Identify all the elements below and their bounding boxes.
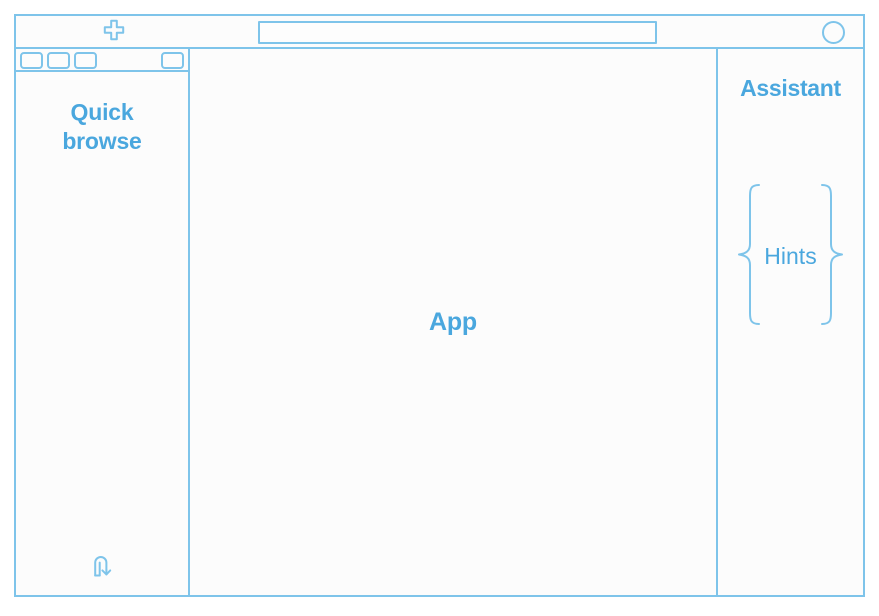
sidebar-content: Quick browse bbox=[16, 72, 188, 595]
address-bar[interactable] bbox=[258, 21, 657, 44]
app-content-area[interactable]: App bbox=[190, 49, 718, 595]
sidebar-title: Quick browse bbox=[16, 98, 188, 157]
sidebar-title-line-1: Quick bbox=[16, 98, 188, 127]
quick-browse-sidebar: Quick browse bbox=[16, 49, 190, 595]
sidebar-tool-2[interactable] bbox=[47, 52, 70, 69]
sidebar-toolbar bbox=[16, 49, 188, 72]
assistant-panel: Assistant Hints bbox=[718, 49, 863, 595]
app-label: App bbox=[429, 308, 477, 337]
u-turn-arrow-icon[interactable] bbox=[87, 550, 117, 585]
address-input[interactable] bbox=[260, 23, 655, 42]
browser-chrome-bar bbox=[16, 16, 863, 49]
sidebar-tool-1[interactable] bbox=[20, 52, 43, 69]
hints-label: Hints bbox=[762, 243, 818, 270]
wireframe-window: Quick browse bbox=[14, 14, 865, 597]
sidebar-tool-3[interactable] bbox=[74, 52, 97, 69]
assistant-title: Assistant bbox=[718, 75, 863, 102]
sidebar-tool-4[interactable] bbox=[161, 52, 184, 69]
sidebar-title-line-2: browse bbox=[16, 127, 188, 156]
window-body: Quick browse bbox=[16, 49, 863, 595]
circle-avatar-icon[interactable] bbox=[822, 21, 845, 44]
right-brace-icon bbox=[819, 182, 845, 332]
sidebar-footer[interactable] bbox=[16, 550, 188, 585]
left-brace-icon bbox=[736, 182, 762, 332]
new-tab-button[interactable] bbox=[100, 20, 128, 45]
hints-block: Hints bbox=[718, 184, 863, 329]
plus-icon bbox=[102, 18, 126, 47]
